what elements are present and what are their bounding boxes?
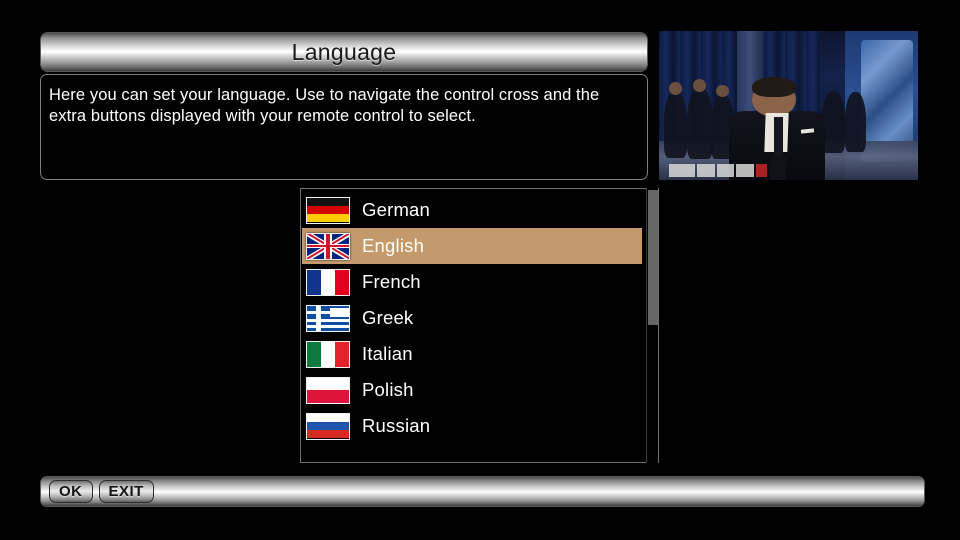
page-title: Language <box>292 39 397 66</box>
exit-button[interactable]: EXIT <box>99 480 154 503</box>
flag-de-icon <box>306 197 350 224</box>
description-text: Here you can set your language. Use to n… <box>49 85 639 127</box>
language-label: Italian <box>362 343 413 365</box>
flag-gr-icon <box>306 305 350 332</box>
preview-channel-bug <box>669 164 778 177</box>
language-label: Russian <box>362 415 430 437</box>
scrollbar-track[interactable] <box>646 188 658 463</box>
language-row-italian[interactable]: Italian <box>302 336 642 372</box>
flag-gb-icon <box>306 233 350 260</box>
language-row-russian[interactable]: Russian <box>302 408 642 444</box>
preview-crowd-figure <box>687 88 713 160</box>
flag-it-icon <box>306 341 350 368</box>
language-list: GermanEnglishFrenchGreekItalianPolishRus… <box>302 192 642 444</box>
language-list-panel: GermanEnglishFrenchGreekItalianPolishRus… <box>300 188 659 463</box>
language-label: Greek <box>362 307 413 329</box>
preview-crowd-figure <box>845 92 866 152</box>
scrollbar-thumb[interactable] <box>648 190 658 325</box>
language-label: French <box>362 271 421 293</box>
language-label: German <box>362 199 430 221</box>
flag-fr-icon <box>306 269 350 296</box>
language-row-german[interactable]: German <box>302 192 642 228</box>
preview-crowd-head <box>716 85 729 97</box>
ok-button[interactable]: OK <box>49 480 93 503</box>
language-label: Polish <box>362 379 414 401</box>
preview-crowd-head <box>693 79 706 92</box>
bottom-action-bar: OK EXIT <box>40 476 925 507</box>
language-row-french[interactable]: French <box>302 264 642 300</box>
description-box: Here you can set your language. Use to n… <box>40 74 648 180</box>
language-row-polish[interactable]: Polish <box>302 372 642 408</box>
preview-reporter-hair <box>752 77 796 96</box>
flag-ru-icon <box>306 413 350 440</box>
preview-crowd-figure <box>664 91 687 158</box>
language-label: English <box>362 235 424 257</box>
live-tv-preview[interactable] <box>659 31 918 180</box>
title-bar: Language <box>40 32 648 72</box>
language-row-greek[interactable]: Greek <box>302 300 642 336</box>
flag-pl-icon <box>306 377 350 404</box>
preview-crowd-figure <box>822 91 845 154</box>
language-row-english[interactable]: English <box>302 228 642 264</box>
